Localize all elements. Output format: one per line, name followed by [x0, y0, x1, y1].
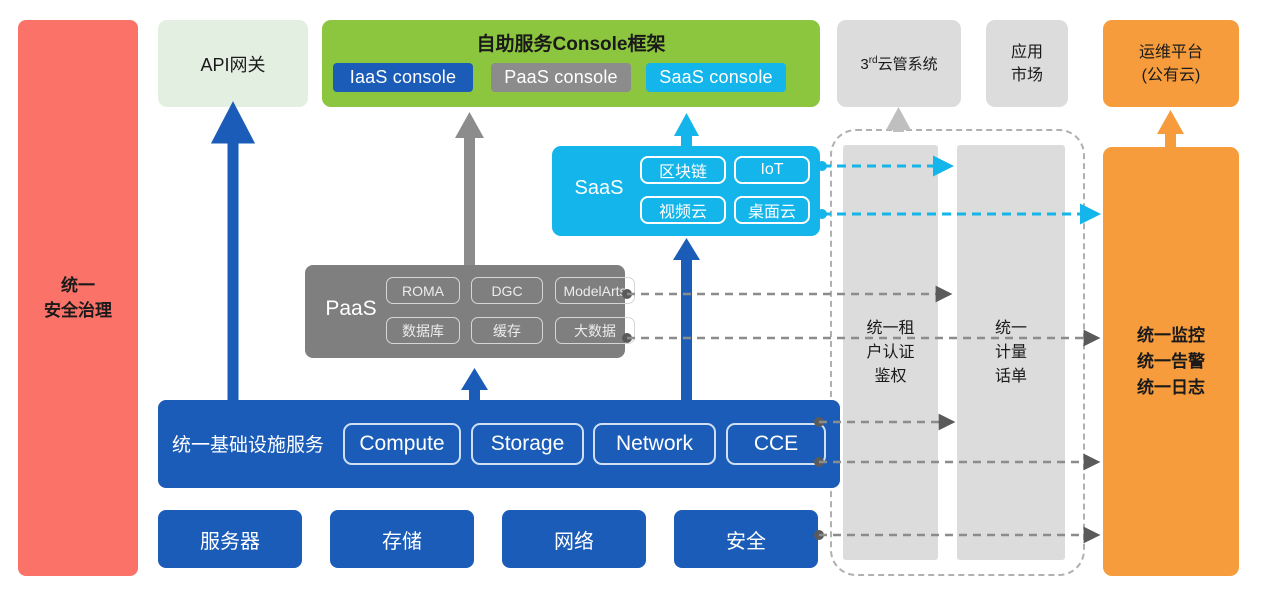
api-gateway-label: API网关: [200, 51, 265, 77]
saas-item-blockchain[interactable]: 区块链: [640, 156, 726, 184]
arrow-infra-to-saas: [673, 238, 700, 400]
app-market-box[interactable]: 应用 市场: [986, 20, 1068, 107]
arrow-ops-column-to-ops-platform: [1157, 110, 1184, 148]
resource-label-network: 网络: [554, 525, 594, 554]
resource-label-storage: 存储: [382, 525, 422, 554]
iaas-console-pill[interactable]: IaaS console: [333, 63, 473, 92]
resource-box-security[interactable]: 安全: [674, 510, 818, 568]
arrow-infra-to-paas: [461, 368, 488, 400]
metering-billing-bar[interactable]: 统一 计量 话单: [957, 145, 1065, 560]
saas-layer-box[interactable]: SaaS 区块链 IoT 视频云 桌面云: [552, 146, 820, 236]
paas-item-cache[interactable]: 缓存: [471, 317, 543, 344]
iaas-console-label: IaaS console: [350, 67, 456, 88]
ops-column[interactable]: 统一监控 统一告警 统一日志: [1103, 147, 1239, 576]
paas-item-dgc[interactable]: DGC: [471, 277, 543, 304]
third-party-cloud-mgmt-box[interactable]: 3rd云管系统: [837, 20, 961, 107]
paas-item-modelarts[interactable]: ModelArts: [555, 277, 635, 304]
resource-box-storage[interactable]: 存储: [330, 510, 474, 568]
saas-layer-label: SaaS: [564, 177, 634, 200]
arrow-saas-to-console: [674, 113, 699, 147]
paas-item-database[interactable]: 数据库: [386, 317, 460, 344]
infra-item-compute[interactable]: Compute: [343, 423, 461, 465]
ops-platform-line2: (公有云): [1139, 64, 1203, 87]
paas-layer-label: PaaS: [315, 297, 387, 321]
metering-line3: 话单: [995, 365, 1027, 389]
ops-column-line3: 统一日志: [1137, 375, 1205, 401]
resource-box-server[interactable]: 服务器: [158, 510, 302, 568]
ops-column-line1: 统一监控: [1137, 323, 1205, 349]
saas-console-pill[interactable]: SaaS console: [646, 63, 786, 92]
paas-item-roma[interactable]: ROMA: [386, 277, 460, 304]
paas-item-bigdata[interactable]: 大数据: [555, 317, 635, 344]
paas-console-label: PaaS console: [504, 67, 617, 88]
arrow-infra-to-api-gateway: [218, 112, 248, 400]
security-governance-column[interactable]: 统一 安全治理: [18, 20, 138, 576]
saas-item-video-cloud[interactable]: 视频云: [640, 196, 726, 224]
console-framework-title: 自助服务Console框架: [322, 29, 820, 56]
resource-box-network[interactable]: 网络: [502, 510, 646, 568]
api-gateway-box[interactable]: API网关: [158, 20, 308, 107]
infrastructure-layer-box[interactable]: 统一基础设施服务 Compute Storage Network CCE: [158, 400, 840, 488]
tenant-auth-bar[interactable]: 统一租 户认证 鉴权: [843, 145, 938, 560]
security-governance-line1: 统一: [44, 273, 112, 298]
saas-item-iot[interactable]: IoT: [734, 156, 810, 184]
infrastructure-layer-label: 统一基础设施服务: [172, 430, 324, 457]
third-party-cloud-label: 3rd云管系统: [860, 53, 937, 74]
saas-console-label: SaaS console: [659, 67, 772, 88]
arrow-paas-to-console: [455, 112, 484, 265]
infra-item-cce[interactable]: CCE: [726, 423, 826, 465]
app-market-line2: 市场: [1011, 64, 1043, 87]
security-governance-line2: 安全治理: [44, 298, 112, 323]
app-market-line1: 应用: [1011, 41, 1043, 64]
tenant-auth-line1: 统一租: [866, 317, 914, 341]
ops-platform-line1: 运维平台: [1139, 41, 1203, 64]
tenant-auth-line2: 户认证: [866, 341, 914, 365]
saas-item-desktop-cloud[interactable]: 桌面云: [734, 196, 810, 224]
resource-label-server: 服务器: [200, 525, 260, 554]
resource-label-security: 安全: [726, 525, 766, 554]
metering-line1: 统一: [995, 317, 1027, 341]
paas-console-pill[interactable]: PaaS console: [491, 63, 631, 92]
architecture-diagram: 统一 安全治理 API网关 自助服务Console框架 IaaS console…: [0, 0, 1265, 605]
paas-layer-box[interactable]: PaaS ROMA DGC ModelArts 数据库 缓存 大数据: [305, 265, 625, 358]
infra-item-network[interactable]: Network: [593, 423, 716, 465]
console-framework-box[interactable]: 自助服务Console框架 IaaS console PaaS console …: [322, 20, 820, 107]
metering-line2: 计量: [995, 341, 1027, 365]
tenant-auth-line3: 鉴权: [866, 365, 914, 389]
ops-platform-box[interactable]: 运维平台 (公有云): [1103, 20, 1239, 107]
ordinal-suffix: rd: [869, 55, 878, 66]
infra-item-storage[interactable]: Storage: [471, 423, 584, 465]
ops-column-line2: 统一告警: [1137, 349, 1205, 375]
